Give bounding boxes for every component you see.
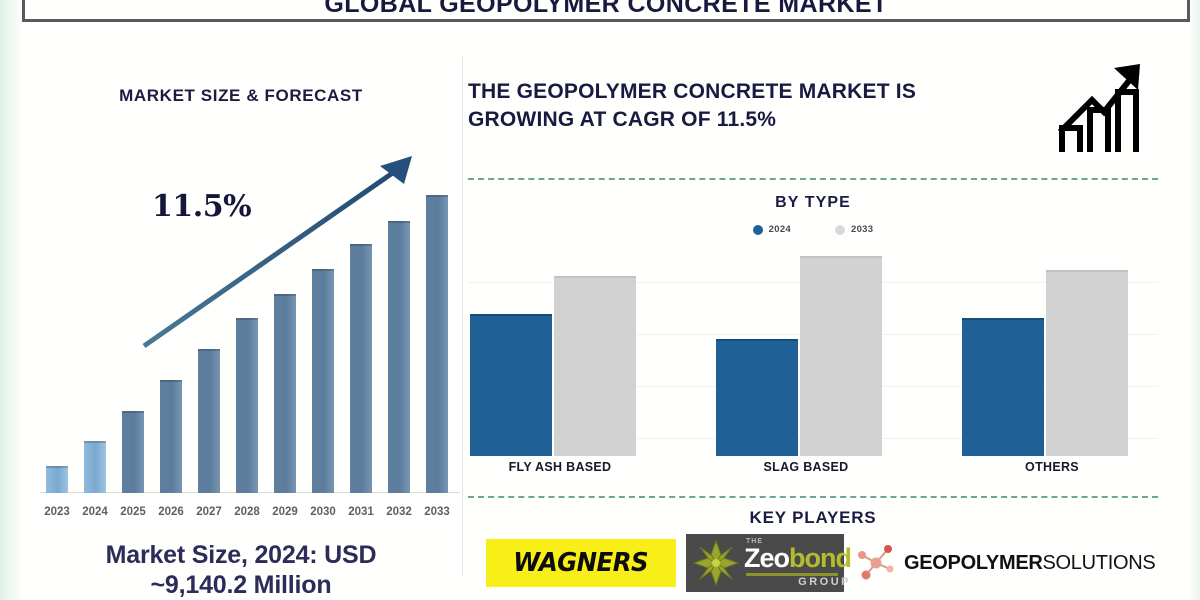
legend-swatch-2024 [753,225,763,235]
title-banner: GLOBAL GEOPOLYMER CONCRETE MARKET [22,0,1190,22]
logo-wagners[interactable]: WAGNERS [486,539,676,587]
forecast-axis-labels: 2023 2024 2025 2026 2027 2028 2029 2030 … [32,500,460,518]
divider-dashed-top [468,178,1158,180]
key-players-logos: WAGNERS [468,534,1168,592]
zeobond-wordmark: THE Zeobond GROUP [744,538,851,588]
bar-2031 [350,244,372,493]
bar-fly-ash-based-2024 [470,314,552,456]
bar-2030 [312,269,334,493]
legend-swatch-2033 [835,225,845,235]
bar-slag-based-2024 [716,339,798,456]
bar-2025 [122,411,144,493]
category-label-others: OTHERS [962,460,1142,474]
key-players-title: KEY PLAYERS [468,508,1158,528]
cagr-headline-line-2: GROWING AT CAGR OF 11.5% [468,106,1028,134]
logo-geopolymer-solutions[interactable]: GEOPOLYMERSOLUTIONS [854,541,1155,585]
zeobond-name-zeo: Zeo [744,543,789,573]
bar-2024 [84,441,106,493]
bar-fly-ash-based-2033 [554,276,636,456]
legend-label-2033: 2033 [851,224,873,235]
bar-others-2024 [962,318,1044,456]
bar-slag-based-2033 [800,256,882,456]
geopolymer-solutions-wordmark: GEOPOLYMERSOLUTIONS [904,552,1155,575]
by-type-title: BY TYPE [468,194,1158,212]
zeobond-name: Zeobond [744,545,851,572]
bar-group-others [962,248,1142,456]
market-size-line-2: ~9,140.2 Million [22,571,460,600]
legend-label-2024: 2024 [769,224,791,235]
axis-label-2033: 2033 [418,506,456,518]
solutions-light: SOLUTIONS [1043,552,1156,574]
by-type-bar-chart [468,248,1158,456]
left-edge-gradient [0,0,22,600]
divider-dashed-bottom [468,496,1158,498]
panel-divider [462,56,463,576]
axis-label-2029: 2029 [266,506,304,518]
category-label-slag-based: SLAG BASED [716,460,896,474]
bar-2023 [46,466,68,493]
bar-2033 [426,195,448,493]
legend-item-2033[interactable]: 2033 [835,224,873,235]
logo-wagners-text: WAGNERS [514,548,649,578]
bar-2028 [236,318,258,493]
axis-label-2025: 2025 [114,506,152,518]
market-size-footer: Market Size, 2024: USD ~9,140.2 Million [22,541,460,600]
axis-label-2032: 2032 [380,506,418,518]
market-size-line-1: Market Size, 2024: USD [22,541,460,571]
axis-label-2024: 2024 [76,506,114,518]
left-panel-heading: MARKET SIZE & FORECAST [22,86,460,106]
page-title: GLOBAL GEOPOLYMER CONCRETE MARKET [324,0,887,19]
geopolymer-bold: GEOPOLYMER [904,552,1043,574]
market-insights-panel: THE GEOPOLYMER CONCRETE MARKET IS GROWIN… [468,56,1190,600]
axis-label-2031: 2031 [342,506,380,518]
bar-2027 [198,349,220,493]
bar-2032 [388,221,410,493]
by-type-category-labels: FLY ASH BASED SLAG BASED OTHERS [468,460,1158,480]
zeobond-group: GROUP [798,577,851,588]
cagr-headline-line-1: THE GEOPOLYMER CONCRETE MARKET IS [468,78,1028,106]
category-label-fly-ash-based: FLY ASH BASED [470,460,650,474]
infographic-page: GLOBAL GEOPOLYMER CONCRETE MARKET MARKET… [0,0,1200,600]
legend-item-2024[interactable]: 2024 [753,224,791,235]
by-type-legend: 2024 2033 [468,224,1158,235]
bar-group-fly-ash-based [470,248,650,456]
bar-2026 [160,380,182,493]
axis-label-2030: 2030 [304,506,342,518]
right-edge-gradient [1190,0,1200,600]
logo-zeobond[interactable]: THE Zeobond GROUP [686,534,844,592]
axis-label-2023: 2023 [38,506,76,518]
axis-label-2026: 2026 [152,506,190,518]
cagr-headline: THE GEOPOLYMER CONCRETE MARKET IS GROWIN… [468,78,1028,135]
zeobond-starburst-icon [692,539,740,587]
forecast-bar-chart [32,153,460,493]
bar-chart-growth-icon [1052,56,1148,156]
bar-group-slag-based [716,248,896,456]
bar-others-2033 [1046,270,1128,456]
bar-2029 [274,294,296,493]
axis-label-2027: 2027 [190,506,228,518]
market-size-forecast-panel: MARKET SIZE & FORECAST 11.5% [22,56,460,600]
zeobond-name-bond: bond [789,543,851,573]
molecule-icon [854,541,898,585]
axis-label-2028: 2028 [228,506,266,518]
